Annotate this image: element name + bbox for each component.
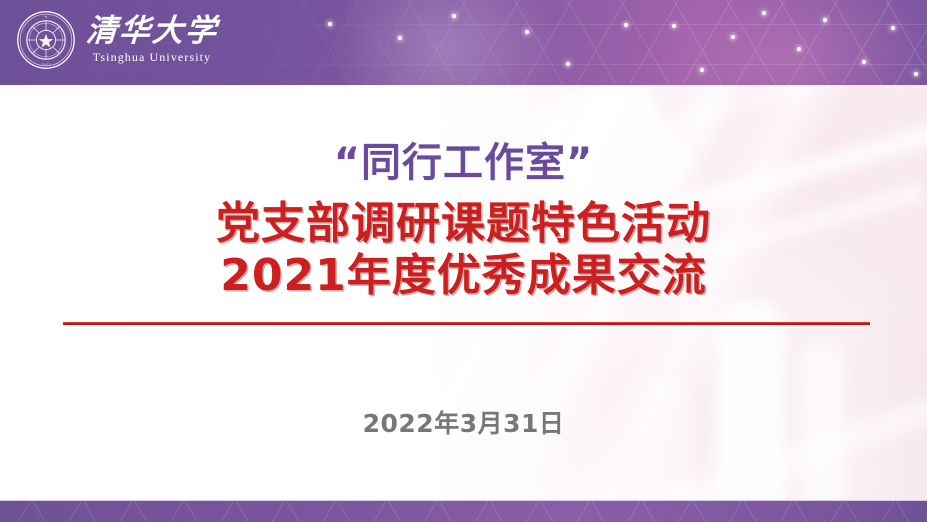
header-node-dot [566, 62, 570, 66]
header-node-dot [672, 24, 676, 28]
header-node-dot [398, 36, 402, 40]
header-band: ★ 1911 清华大学 Tsinghua University [0, 0, 927, 85]
svg-text:★: ★ [44, 15, 48, 19]
svg-text:1911: 1911 [41, 63, 50, 67]
header-node-dot [525, 30, 529, 34]
header-node-dot [891, 26, 895, 30]
slide-title-line-1: 党支部调研课题特色活动 [216, 198, 711, 249]
red-divider-rule [63, 322, 870, 325]
slide-subtitle: “同行工作室” [0, 140, 927, 186]
header-node-dot [328, 22, 332, 26]
slide-title: 党支部调研课题特色活动 2021年度优秀成果交流 [0, 198, 927, 302]
slide-title-line-2: 2021年度优秀成果交流 [0, 250, 927, 302]
logo-name-en: Tsinghua University [93, 50, 211, 65]
header-node-dot [731, 35, 735, 39]
logo-name-cn: 清华大学 [85, 15, 219, 48]
footer-hexagon-pattern-icon [0, 500, 927, 522]
tsinghua-logo: ★ 1911 清华大学 Tsinghua University [16, 10, 218, 70]
header-node-dot [914, 72, 918, 76]
header-node-dot [797, 47, 801, 51]
header-node-dot [700, 68, 704, 72]
presentation-slide: ★ 1911 清华大学 Tsinghua University “同行工作室” … [0, 0, 927, 522]
header-node-dot [862, 60, 866, 64]
slide-date: 2022年3月31日 [0, 404, 927, 440]
header-node-dot [624, 23, 628, 27]
header-node-dot [452, 14, 456, 18]
footer-band [0, 500, 927, 522]
title-block: “同行工作室” 党支部调研课题特色活动 2021年度优秀成果交流 [0, 140, 927, 302]
header-node-dot [762, 11, 766, 15]
header-node-dot [823, 18, 827, 22]
tsinghua-seal-icon: ★ 1911 [16, 10, 76, 70]
